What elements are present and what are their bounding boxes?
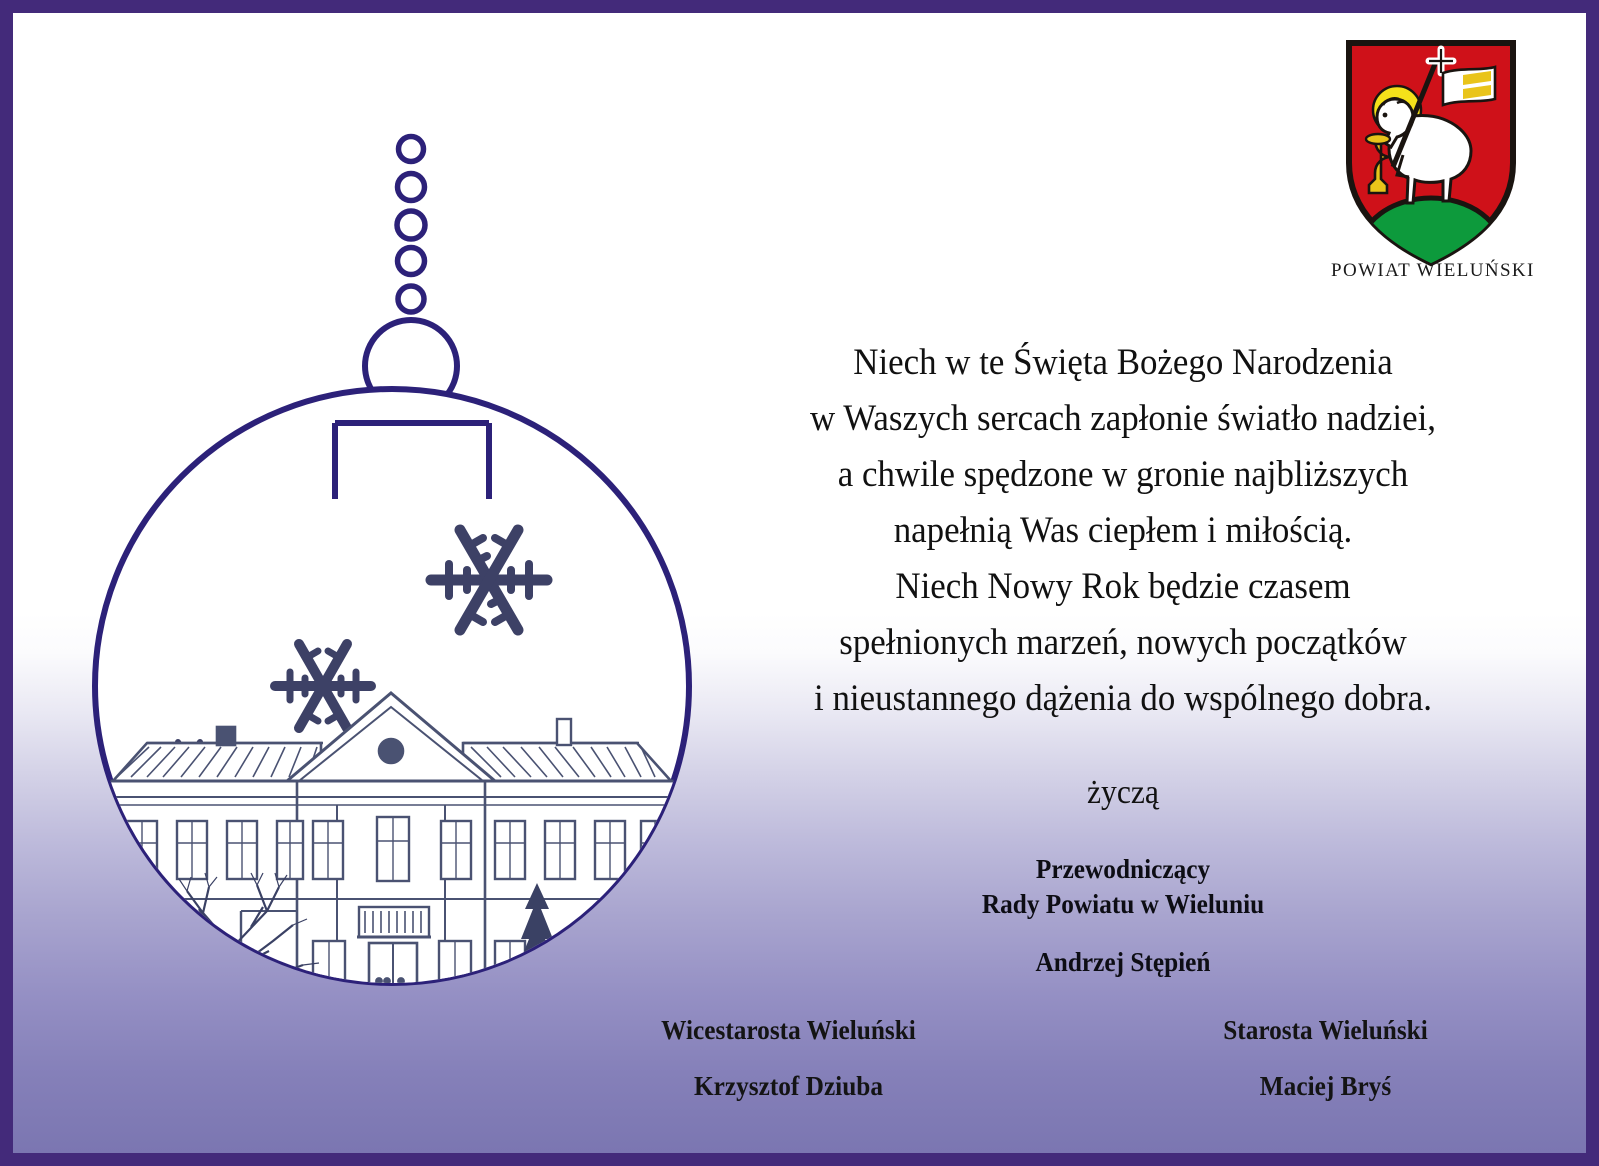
crest-label: POWIAT WIELUŃSKI [1331, 260, 1531, 282]
greeting-line-2: w Waszych sercach zapłonie światło nadzi… [732, 391, 1513, 447]
greeting-line-5: Niech Nowy Rok będzie czasem [732, 559, 1513, 615]
coat-of-arms-powiat-wielunski [1331, 37, 1531, 292]
greeting-message: Niech w te Święta Bożego Narodzenia w Wa… [732, 335, 1513, 727]
greeting-line-3: a chwile spędzone w gronie najbliższych [732, 447, 1513, 503]
greeting-line-1: Niech w te Święta Bożego Narodzenia [732, 335, 1513, 391]
chairman-title-line-1: Przewodniczący [1036, 853, 1210, 884]
christmas-bauble-illustration [91, 121, 731, 1071]
wish-verb: życzą [928, 773, 1319, 813]
vice-starosta-title: Wicestarosta Wieluński [579, 1013, 998, 1046]
chairman-title-line-2: Rady Powiatu w Wieluniu [982, 888, 1264, 919]
card-inner-surface: POWIAT WIELUŃSKI [13, 13, 1586, 1153]
chain-beads [397, 137, 425, 313]
greeting-line-7: i nieustannego dążenia do wspólnego dobr… [732, 671, 1513, 727]
starosta-name: Maciej Bryś [1116, 1069, 1535, 1102]
greeting-line-6: spełnionych marzeń, nowych początków [732, 615, 1513, 671]
greeting-line-4: napełnią Was ciepłem i miłością. [732, 503, 1513, 559]
vice-starosta-name: Krzysztof Dziuba [579, 1069, 998, 1102]
starosta-title: Starosta Wieluński [1116, 1013, 1535, 1046]
christmas-greeting-card: POWIAT WIELUŃSKI [0, 0, 1599, 1166]
chairman-name: Andrzej Stępień [930, 945, 1316, 979]
chairman-title: Przewodniczący Rady Powiatu w Wieluniu [930, 851, 1316, 921]
